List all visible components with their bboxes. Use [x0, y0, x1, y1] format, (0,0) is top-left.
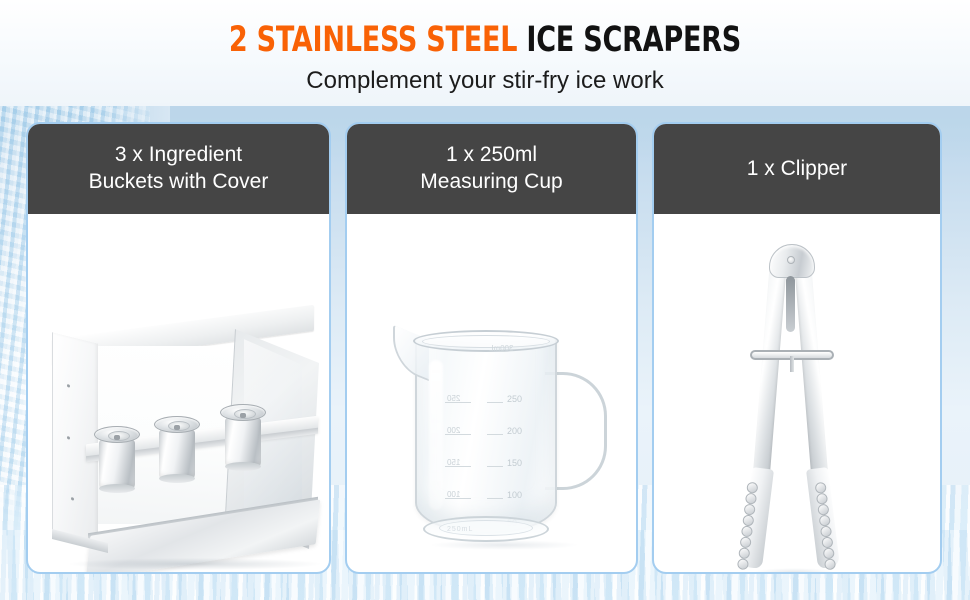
- measuring-cup-spout: [393, 325, 429, 382]
- graduation-row: 100 100: [445, 498, 541, 499]
- product-card-measuring-cup: 1 x 250ml Measuring Cup 300mL 250 250: [345, 122, 638, 574]
- product-image-clipper-tongs: [724, 232, 874, 572]
- graduation-tick: [487, 434, 503, 435]
- station-left-panel: [52, 332, 98, 549]
- graduation-label-mirrored: 250: [447, 394, 460, 403]
- card-header-label: 1 x 250ml Measuring Cup: [410, 141, 572, 195]
- graduation-tick: [487, 466, 503, 467]
- bucket-lid-knob: [114, 435, 120, 440]
- page-title: 2 STAINLESS STEEL ICE SCRAPERS: [68, 20, 902, 60]
- product-image-ingredient-bucket-station: [30, 322, 330, 572]
- card-header-clipper: 1 x Clipper: [652, 122, 942, 214]
- graduation-label-mirrored: 100: [447, 490, 460, 499]
- product-card-ingredient-buckets: 3 x Ingredient Buckets with Cover: [26, 122, 331, 574]
- measuring-cup-bottom-marking: 250mL: [447, 526, 473, 533]
- tongs-locking-ring-stem: [790, 356, 794, 372]
- card-header-measuring-cup: 1 x 250ml Measuring Cup: [345, 122, 638, 214]
- card-body-ingredient-buckets: [26, 214, 331, 572]
- bucket-cup: [225, 418, 261, 468]
- measuring-cup-graduation-scale: 300mL 250 250 200 200: [445, 378, 541, 528]
- graduation-label: 200: [507, 426, 522, 436]
- page-title-plain: ICE SCRAPERS: [526, 20, 741, 60]
- bucket-cup: [99, 440, 135, 490]
- tongs-center-slot: [786, 276, 795, 332]
- page-title-highlight: 2 STAINLESS STEEL: [229, 20, 517, 60]
- station-drop-shadow: [70, 558, 320, 570]
- graduation-label-mirrored: 150: [447, 458, 460, 467]
- graduation-label: 250: [507, 394, 522, 404]
- graduation-row: 150 150: [445, 466, 541, 467]
- graduation-tick: [487, 402, 503, 403]
- graduation-label: 100: [507, 490, 522, 500]
- card-body-clipper: [654, 214, 940, 572]
- graduation-label-mirrored: 200: [447, 426, 460, 435]
- graduation-row: 250 250: [445, 402, 541, 403]
- graduation-capacity-label: 300mL: [489, 344, 513, 353]
- card-header-ingredient-buckets: 3 x Ingredient Buckets with Cover: [26, 122, 331, 214]
- card-body-measuring-cup: 300mL 250 250 200 200: [347, 214, 636, 572]
- graduation-label: 150: [507, 458, 522, 468]
- card-header-label: 1 x Clipper: [737, 155, 857, 182]
- bucket-lid-knob: [174, 425, 180, 430]
- product-image-measuring-cup: 300mL 250 250 200 200: [395, 320, 605, 560]
- measuring-cup-drop-shadow: [429, 540, 579, 550]
- bucket-cup: [159, 430, 195, 480]
- bucket-lid-knob: [240, 413, 246, 418]
- graduation-tick: [487, 498, 503, 499]
- tongs-drop-shadow: [754, 568, 834, 572]
- tongs-brand-logo-icon: [787, 256, 795, 264]
- product-card-clipper: 1 x Clipper: [652, 122, 942, 574]
- page-subtitle: Complement your stir-fry ice work: [0, 66, 970, 96]
- header-banner: 2 STAINLESS STEEL ICE SCRAPERS Complemen…: [0, 0, 970, 106]
- graduation-row: 200 200: [445, 434, 541, 435]
- infographic-canvas: 2 STAINLESS STEEL ICE SCRAPERS Complemen…: [0, 0, 970, 600]
- card-header-label: 3 x Ingredient Buckets with Cover: [79, 141, 279, 195]
- measuring-cup-highlight: [429, 360, 443, 510]
- measuring-cup-rim-inner: [422, 335, 550, 348]
